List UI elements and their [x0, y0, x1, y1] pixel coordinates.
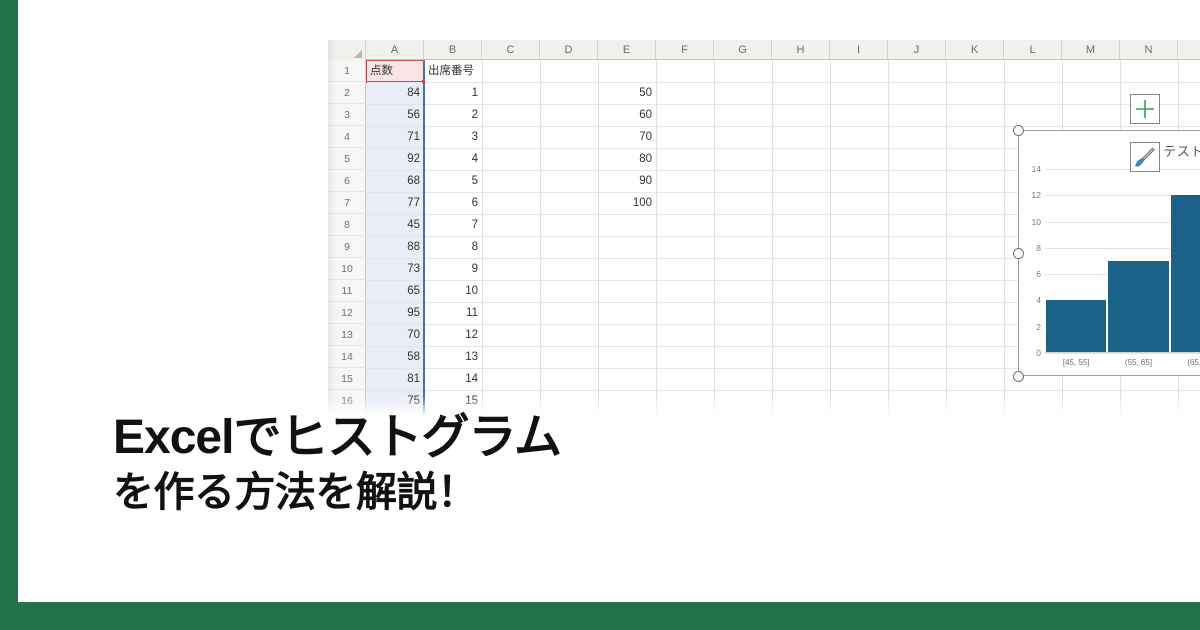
cell-A14[interactable]: 58 [366, 346, 424, 368]
cell-B9[interactable]: 8 [424, 236, 482, 258]
cell-B13[interactable]: 12 [424, 324, 482, 346]
column-header-a[interactable]: A [366, 40, 424, 60]
column-header-strip: ABCDEFGHIJKLMN [328, 40, 1200, 60]
cell-B8[interactable]: 7 [424, 214, 482, 236]
x-axis-line [1045, 352, 1200, 353]
cell-A16[interactable]: 75 [366, 390, 424, 412]
column-header-h[interactable]: H [772, 40, 830, 60]
cell-A8[interactable]: 45 [366, 214, 424, 236]
histogram-bar[interactable] [1107, 261, 1169, 353]
x-axis-label: (65, 75] [1170, 358, 1200, 367]
overlay-title-line2: を作る方法を解説！ [113, 466, 561, 518]
chart-resize-handle-tl[interactable] [1013, 125, 1024, 136]
cell-E4[interactable]: 70 [598, 126, 656, 148]
column-header-n[interactable]: N [1120, 40, 1178, 60]
y-gridline [1045, 353, 1200, 354]
row-header-9[interactable]: 9 [328, 236, 366, 258]
row-header-12[interactable]: 12 [328, 302, 366, 324]
row-header-14[interactable]: 14 [328, 346, 366, 368]
overlay-title: Excelでヒストグラム を作る方法を解説！ [113, 410, 561, 518]
chart-elements-button[interactable] [1130, 94, 1160, 124]
row-header-10[interactable]: 10 [328, 258, 366, 280]
column-header-j[interactable]: J [888, 40, 946, 60]
histogram-bar[interactable] [1045, 300, 1107, 353]
grid-hline [366, 390, 1200, 391]
histogram-bar[interactable] [1170, 195, 1200, 353]
y-axis-tick-8: 8 [1036, 243, 1041, 253]
row-header-1[interactable]: 1 [328, 60, 366, 82]
cell-A10[interactable]: 73 [366, 258, 424, 280]
row-header-3[interactable]: 3 [328, 104, 366, 126]
y-axis-tick-14: 14 [1032, 164, 1041, 174]
column-header-f[interactable]: F [656, 40, 714, 60]
grid-hline [366, 126, 1200, 127]
cell-A12[interactable]: 95 [366, 302, 424, 324]
y-axis-tick-6: 6 [1036, 269, 1041, 279]
cell-B3[interactable]: 2 [424, 104, 482, 126]
grid-vline [946, 60, 947, 420]
chart-resize-handle-ml[interactable] [1013, 248, 1024, 259]
y-axis-tick-2: 2 [1036, 322, 1041, 332]
grid-vline [772, 60, 773, 420]
cell-A11[interactable]: 65 [366, 280, 424, 302]
cell-B1[interactable]: 出席番号 [424, 60, 482, 82]
row-header-strip: 1234567891011121314151617 [328, 60, 366, 420]
grid-vline [656, 60, 657, 420]
row-header-13[interactable]: 13 [328, 324, 366, 346]
cell-E2[interactable]: 50 [598, 82, 656, 104]
column-header-e[interactable]: E [598, 40, 656, 60]
cell-A1[interactable]: 点数 [366, 60, 424, 82]
cell-A6[interactable]: 68 [366, 170, 424, 192]
cell-E3[interactable]: 60 [598, 104, 656, 126]
row-header-11[interactable]: 11 [328, 280, 366, 302]
cell-A15[interactable]: 81 [366, 368, 424, 390]
grid-hline [366, 82, 1200, 83]
cell-A9[interactable]: 88 [366, 236, 424, 258]
paintbrush-icon [1131, 143, 1159, 171]
grid-vline [540, 60, 541, 420]
og-image-canvas: ABCDEFGHIJKLMN 1234567891011121314151617… [0, 0, 1200, 630]
cell-A2[interactable]: 84 [366, 82, 424, 104]
grid-vline [888, 60, 889, 420]
cell-A7[interactable]: 77 [366, 192, 424, 214]
row-header-5[interactable]: 5 [328, 148, 366, 170]
row-header-7[interactable]: 7 [328, 192, 366, 214]
row-header-2[interactable]: 2 [328, 82, 366, 104]
y-axis-tick-0: 0 [1036, 348, 1041, 358]
chart-plot-area: 02468101214 [45, 55](55, 65](65, 75](75,… [1045, 169, 1200, 353]
plus-icon [1131, 95, 1159, 123]
chart-title: テストの点数の分布 [1019, 141, 1200, 160]
grid-vline [714, 60, 715, 420]
column-header-i[interactable]: I [830, 40, 888, 60]
cell-B11[interactable]: 10 [424, 280, 482, 302]
cell-B5[interactable]: 4 [424, 148, 482, 170]
y-axis-tick-10: 10 [1032, 217, 1041, 227]
column-header-k[interactable]: K [946, 40, 1004, 60]
cell-B15[interactable]: 14 [424, 368, 482, 390]
row-header-4[interactable]: 4 [328, 126, 366, 148]
excel-spreadsheet-screenshot: ABCDEFGHIJKLMN 1234567891011121314151617… [328, 40, 1200, 420]
grid-vline [482, 60, 483, 420]
cell-B10[interactable]: 9 [424, 258, 482, 280]
select-all-corner[interactable] [328, 40, 366, 60]
column-header-c[interactable]: C [482, 40, 540, 60]
cell-E5[interactable]: 80 [598, 148, 656, 170]
cell-E7[interactable]: 100 [598, 192, 656, 214]
chart-styles-button[interactable] [1130, 142, 1160, 172]
cell-A5[interactable]: 92 [366, 148, 424, 170]
x-axis-label: [45, 55] [1045, 358, 1107, 367]
column-header-d[interactable]: D [540, 40, 598, 60]
cell-A3[interactable]: 56 [366, 104, 424, 126]
column-header-l[interactable]: L [1004, 40, 1062, 60]
row-header-6[interactable]: 6 [328, 170, 366, 192]
white-card: ABCDEFGHIJKLMN 1234567891011121314151617… [18, 0, 1200, 602]
column-header-b[interactable]: B [424, 40, 482, 60]
cell-E6[interactable]: 90 [598, 170, 656, 192]
overlay-title-line1: Excelでヒストグラム [113, 410, 561, 466]
chart-resize-handle-bl[interactable] [1013, 371, 1024, 382]
cell-B2[interactable]: 1 [424, 82, 482, 104]
row-header-15[interactable]: 15 [328, 368, 366, 390]
cell-B12[interactable]: 11 [424, 302, 482, 324]
cell-B4[interactable]: 3 [424, 126, 482, 148]
cell-A4[interactable]: 71 [366, 126, 424, 148]
row-header-16[interactable]: 16 [328, 390, 366, 412]
grid-vline [830, 60, 831, 420]
grid-vline [1004, 60, 1005, 420]
cell-B16[interactable]: 15 [424, 390, 482, 412]
cell-B6[interactable]: 5 [424, 170, 482, 192]
column-header-g[interactable]: G [714, 40, 772, 60]
cell-B7[interactable]: 6 [424, 192, 482, 214]
column-header-m[interactable]: M [1062, 40, 1120, 60]
x-axis-label: (55, 65] [1107, 358, 1169, 367]
row-header-8[interactable]: 8 [328, 214, 366, 236]
cell-A13[interactable]: 70 [366, 324, 424, 346]
histogram-chart-object[interactable]: テストの点数の分布 02468101214 [45, 55](55, 65](6… [1018, 130, 1200, 376]
y-axis-tick-12: 12 [1032, 190, 1041, 200]
y-axis-tick-4: 4 [1036, 295, 1041, 305]
grid-hline [366, 104, 1200, 105]
cell-B14[interactable]: 13 [424, 346, 482, 368]
